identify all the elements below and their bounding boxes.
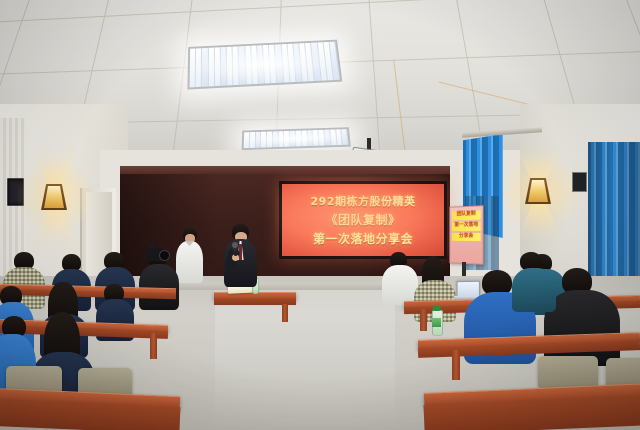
- desk-right-row-2-leg: [452, 350, 460, 380]
- slide-line-2: 《团队复制》: [325, 214, 400, 226]
- microphone-head: [232, 242, 238, 248]
- audience-torso: [382, 265, 418, 305]
- slide-line-1: 292期栋方股份精英: [311, 196, 416, 207]
- podium-table-leg: [282, 304, 288, 322]
- audience-torso: [512, 268, 556, 312]
- video-camera-handle: [149, 243, 154, 249]
- water-bottle-desk-cap: [433, 306, 440, 311]
- ceiling-light-panel-front: [187, 40, 342, 90]
- video-camera-lens: [159, 250, 170, 261]
- meeting-room-photo: 292期栋方股份精英 《团队复制》 第一次落地分享会 团队复制 第一次落地 分享…: [0, 0, 640, 430]
- presenter-with-microphone: [222, 224, 258, 292]
- chair-right-1[interactable]: [538, 356, 598, 388]
- desk-right-row-1-leg: [420, 309, 427, 331]
- slide-line-3: 第一次落地分享会: [313, 233, 413, 245]
- floor-aisle: [215, 290, 395, 430]
- banner-text-2: 第一次落地: [452, 223, 481, 229]
- ceiling-light-panel-rear: [242, 127, 351, 150]
- projection-screen: 292期栋方股份精英 《团队复制》 第一次落地分享会: [282, 184, 444, 256]
- desk-left-row-2-leg: [150, 333, 157, 359]
- projection-screen-frame: 292期栋方股份精英 《团队复制》 第一次落地分享会: [279, 181, 447, 259]
- audience-right-deep-row: [516, 252, 640, 312]
- wall-plate[interactable]: [572, 172, 587, 192]
- water-bottle-desk-label: [432, 318, 441, 327]
- banner-text-1: 团队复制: [452, 211, 481, 218]
- banner-text-3: 分享会: [452, 234, 481, 240]
